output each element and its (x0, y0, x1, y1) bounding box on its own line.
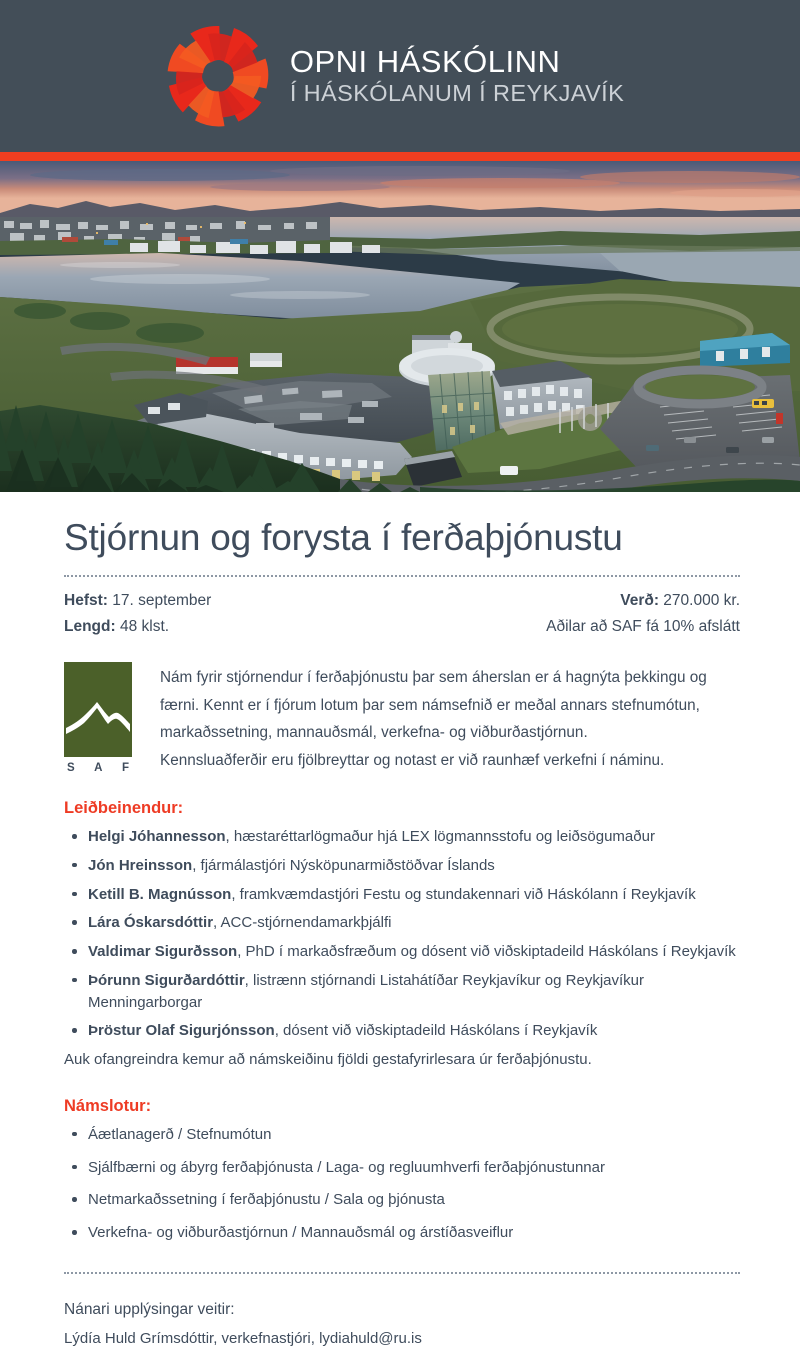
instructor-role: , framkvæmdastjóri Festu og stundakennar… (231, 886, 695, 903)
instructors-list: Helgi Jóhannesson, hæstaréttarlögmaður h… (64, 826, 740, 1042)
list-item: Ketill B. Magnússon, framkvæmdastjóri Fe… (64, 884, 740, 906)
instructor-name: Þórunn Sigurðardóttir (88, 972, 245, 989)
header-brand: OPNI HÁSKÓLINN Í HÁSKÓLANUM Í REYKJAVÍK (164, 22, 624, 130)
modules-heading: Námslotur: (64, 1097, 740, 1116)
instructor-name: Jón Hreinsson (88, 857, 192, 874)
wordmark-primary: OPNI HÁSKÓLINN (290, 46, 624, 77)
length-label: Lengd: (64, 618, 116, 635)
instructor-name: Valdimar Sigurðsson (88, 943, 237, 960)
instructor-role: , PhD í markaðsfræðum og dósent við viðs… (237, 943, 736, 960)
contact-heading: Nánari upplýsingar veitir: (64, 1301, 740, 1319)
wordmark-secondary: Í HÁSKÓLANUM Í REYKJAVÍK (290, 82, 624, 106)
site-header: OPNI HÁSKÓLINN Í HÁSKÓLANUM Í REYKJAVÍK (0, 0, 800, 152)
course-content: Stjórnun og forysta í ferðaþjónustu Hefs… (0, 518, 800, 1347)
modules-list: Áætlanagerð / StefnumótunSjálfbærni og á… (64, 1124, 740, 1244)
instructor-name: Ketill B. Magnússon (88, 886, 231, 903)
start-label: Hefst: (64, 592, 108, 609)
saf-letter-a: A (94, 762, 102, 774)
title-divider (64, 575, 740, 578)
start-info: Hefst: 17. september (64, 592, 211, 610)
meta-row-length-discount: Lengd: 48 klst. Aðilar að SAF fá 10% afs… (64, 618, 740, 636)
price-label: Verð: (620, 592, 659, 609)
ru-pinwheel-logo-icon (164, 22, 272, 130)
orange-accent-bar (0, 152, 800, 161)
contact-block: Nánari upplýsingar veitir: Lýdía Huld Gr… (64, 1301, 740, 1347)
list-item: Þórunn Sigurðardóttir, listrænn stjórnan… (64, 970, 740, 1014)
list-item: Netmarkaðssetning í ferðaþjónustu / Sala… (64, 1189, 740, 1211)
description-block: S A F Nám fyrir stjórnendur í ferðaþjónu… (64, 662, 740, 775)
length-value: 48 klst. (120, 618, 169, 635)
saf-letter-f: F (122, 762, 129, 774)
campus-aerial-photo (0, 161, 800, 492)
list-item: Þröstur Olaf Sigurjónsson, dósent við vi… (64, 1020, 740, 1042)
instructor-role: , ACC-stjórnendamarkþjálfi (213, 914, 391, 931)
instructor-name: Þröstur Olaf Sigurjónsson (88, 1022, 275, 1039)
list-item: Jón Hreinsson, fjármálastjóri Nýsköpunar… (64, 855, 740, 877)
wordmark: OPNI HÁSKÓLINN Í HÁSKÓLANUM Í REYKJAVÍK (290, 46, 624, 106)
list-item: Valdimar Sigurðsson, PhD í markaðsfræðum… (64, 941, 740, 963)
price-value: 270.000 kr. (663, 592, 740, 609)
description-text: Nám fyrir stjórnendur í ferðaþjónustu þa… (160, 662, 740, 775)
instructor-role: , fjármálastjóri Nýsköpunarmiðstöðvar Ís… (192, 857, 495, 874)
list-item: Sjálfbærni og ábyrg ferðaþjónusta / Laga… (64, 1157, 740, 1179)
discount-note: Aðilar að SAF fá 10% afslátt (546, 618, 740, 636)
list-item: Lára Óskarsdóttir, ACC-stjórnendamarkþjá… (64, 912, 740, 934)
instructors-heading: Leiðbeinendur: (64, 799, 740, 818)
instructors-note: Auk ofangreindra kemur að námskeiðinu fj… (64, 1049, 740, 1071)
bottom-divider-wrap (64, 1272, 740, 1275)
contact-person: Lýdía Huld Grímsdóttir, verkefnastjóri, … (64, 1330, 740, 1347)
length-info: Lengd: 48 klst. (64, 618, 169, 636)
price-info: Verð: 270.000 kr. (620, 592, 740, 610)
saf-mountain-icon (64, 662, 132, 757)
saf-letter-s: S (67, 762, 75, 774)
saf-logo: S A F (64, 662, 134, 775)
instructor-role: , hæstaréttarlögmaður hjá LEX lögmannsst… (226, 828, 655, 845)
meta-row-start-price: Hefst: 17. september Verð: 270.000 kr. (64, 592, 740, 610)
instructor-name: Helgi Jóhannesson (88, 828, 226, 845)
instructor-role: , dósent við viðskiptadeild Háskólans í … (275, 1022, 598, 1039)
saf-letters: S A F (67, 762, 129, 774)
list-item: Helgi Jóhannesson, hæstaréttarlögmaður h… (64, 826, 740, 848)
description-paragraph-1: Nám fyrir stjórnendur í ferðaþjónustu þa… (160, 664, 740, 747)
instructor-name: Lára Óskarsdóttir (88, 914, 213, 931)
start-value: 17. september (112, 592, 211, 609)
page-title: Stjórnun og forysta í ferðaþjónustu (64, 518, 740, 559)
description-paragraph-2: Kennsluaðferðir eru fjölbreyttar og nota… (160, 747, 740, 775)
list-item: Verkefna- og viðburðastjórnun / Mannauðs… (64, 1222, 740, 1244)
course-flyer-page: OPNI HÁSKÓLINN Í HÁSKÓLANUM Í REYKJAVÍK (0, 0, 800, 1371)
bottom-divider (64, 1272, 740, 1275)
list-item: Áætlanagerð / Stefnumótun (64, 1124, 740, 1146)
